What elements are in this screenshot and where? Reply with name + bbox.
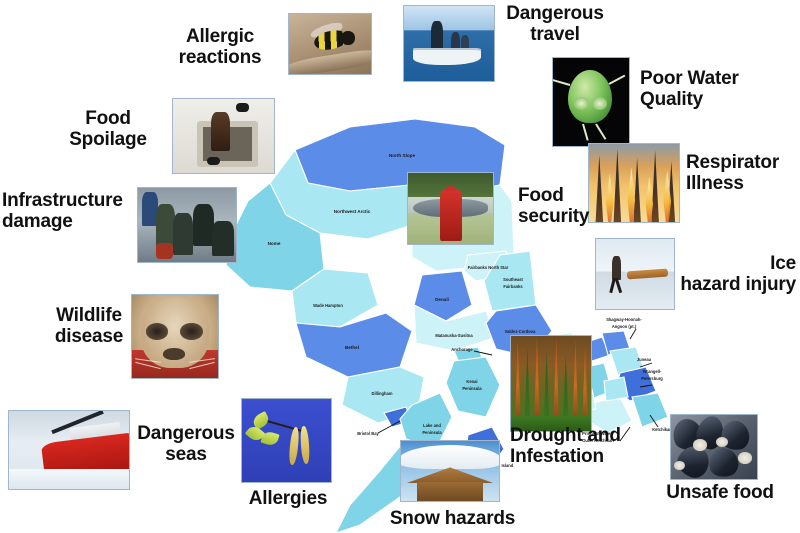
catkins-photo-content (242, 399, 331, 482)
hazard-label-infrastructure-damage: Infrastructure damage (2, 190, 142, 233)
map-label-wrangell-1: Wrangell- (643, 369, 662, 374)
skiff-travel-photo (403, 5, 495, 82)
hazard-label-allergic-reactions: Allergic reactions (160, 26, 280, 69)
region-se-extra-1 (604, 377, 628, 401)
map-label-denali: Denali (435, 297, 449, 302)
hazard-label-ice-hazard-injury: Ice hazard injury (660, 253, 796, 296)
boat-crew-photo-content (138, 188, 236, 262)
map-label-matanuska-susitna: Matanuska-Susitna (435, 333, 473, 338)
map-label-lake-peninsula-2: Peninsula (422, 430, 442, 435)
map-label-wade-hampton: Wade Hampton (313, 303, 343, 308)
wasp-photo (288, 13, 372, 75)
wasp-photo-content (289, 14, 371, 74)
map-label-lake-peninsula-1: Lake and (423, 423, 441, 428)
mussels-photo (670, 414, 758, 480)
seal-face-photo-content (132, 295, 218, 378)
giardia-photo (552, 57, 630, 147)
map-label-wrangell-2: Petersburg (641, 376, 663, 381)
map-label-valdez-cordova: Valdez-Cordova (505, 329, 536, 334)
hazard-label-food-security: Food security (518, 185, 628, 228)
hazard-label-drought-infestation: Drought and Infestation (510, 425, 640, 468)
boat-crew-photo (137, 187, 237, 263)
dead-spruce-photo-content (511, 336, 591, 431)
giardia-photo-content (553, 58, 629, 146)
red-ship-photo-content (9, 411, 129, 489)
map-label-skagway-2: Angoon (pt.) (612, 324, 637, 329)
map-label-nome: Nome (268, 241, 281, 246)
snow-roof-photo (400, 440, 500, 502)
map-label-bethel: Bethel (345, 345, 359, 350)
dead-spruce-photo (510, 335, 592, 432)
map-label-southeast-fairbanks-1: Southeast (503, 277, 523, 282)
ice-fishing-photo-content (173, 99, 274, 173)
hazard-label-unsafe-food: Unsafe food (655, 482, 785, 503)
hazard-label-poor-water-quality: Poor Water Quality (640, 68, 770, 111)
map-label-kenai-1: Kenai (466, 379, 477, 384)
salmon-catch-photo (407, 172, 494, 245)
hazard-label-respirator-illness: Respirator Illness (686, 152, 800, 195)
map-label-northwest-arctic: Northwest Arctic (334, 209, 371, 214)
map-label-anchorage: Anchorage (451, 347, 473, 352)
mussels-photo-content (671, 415, 757, 479)
map-label-bristol-bay: Bristol Bay (357, 431, 379, 436)
hazard-label-dangerous-travel: Dangerous travel (495, 3, 615, 46)
map-label-skagway-1: Skagway-Hoonah- (606, 317, 642, 322)
hazard-label-wildlife-disease: Wildlife disease (38, 305, 140, 348)
skiff-travel-photo-content (404, 6, 494, 81)
map-label-kenai-2: Peninsula (462, 386, 482, 391)
salmon-catch-photo-content (408, 173, 493, 244)
snow-roof-photo-content (401, 441, 499, 501)
map-label-southeast-fairbanks-2: Fairbanks (503, 284, 523, 289)
hazard-label-allergies: Allergies (236, 488, 340, 509)
hazard-label-snow-hazards: Snow hazards (385, 508, 520, 529)
catkins-photo (241, 398, 332, 483)
red-ship-photo (8, 410, 130, 490)
map-label-north-slope: North Slope (389, 153, 415, 158)
map-label-fairbanks-north-star: Fairbanks North Star (468, 265, 509, 270)
hazard-label-dangerous-seas: Dangerous seas (130, 423, 242, 466)
region-ketchikan (632, 393, 668, 427)
figure-canvas: North Slope Northwest Arctic Nome Yukon-… (0, 0, 800, 533)
map-label-dillingham: Dillingham (372, 391, 393, 396)
ice-fishing-photo (172, 98, 275, 174)
map-label-juneau: Juneau (637, 357, 652, 362)
seal-face-photo (131, 294, 219, 379)
hazard-label-food-spoilage: Food Spoilage (48, 108, 168, 151)
